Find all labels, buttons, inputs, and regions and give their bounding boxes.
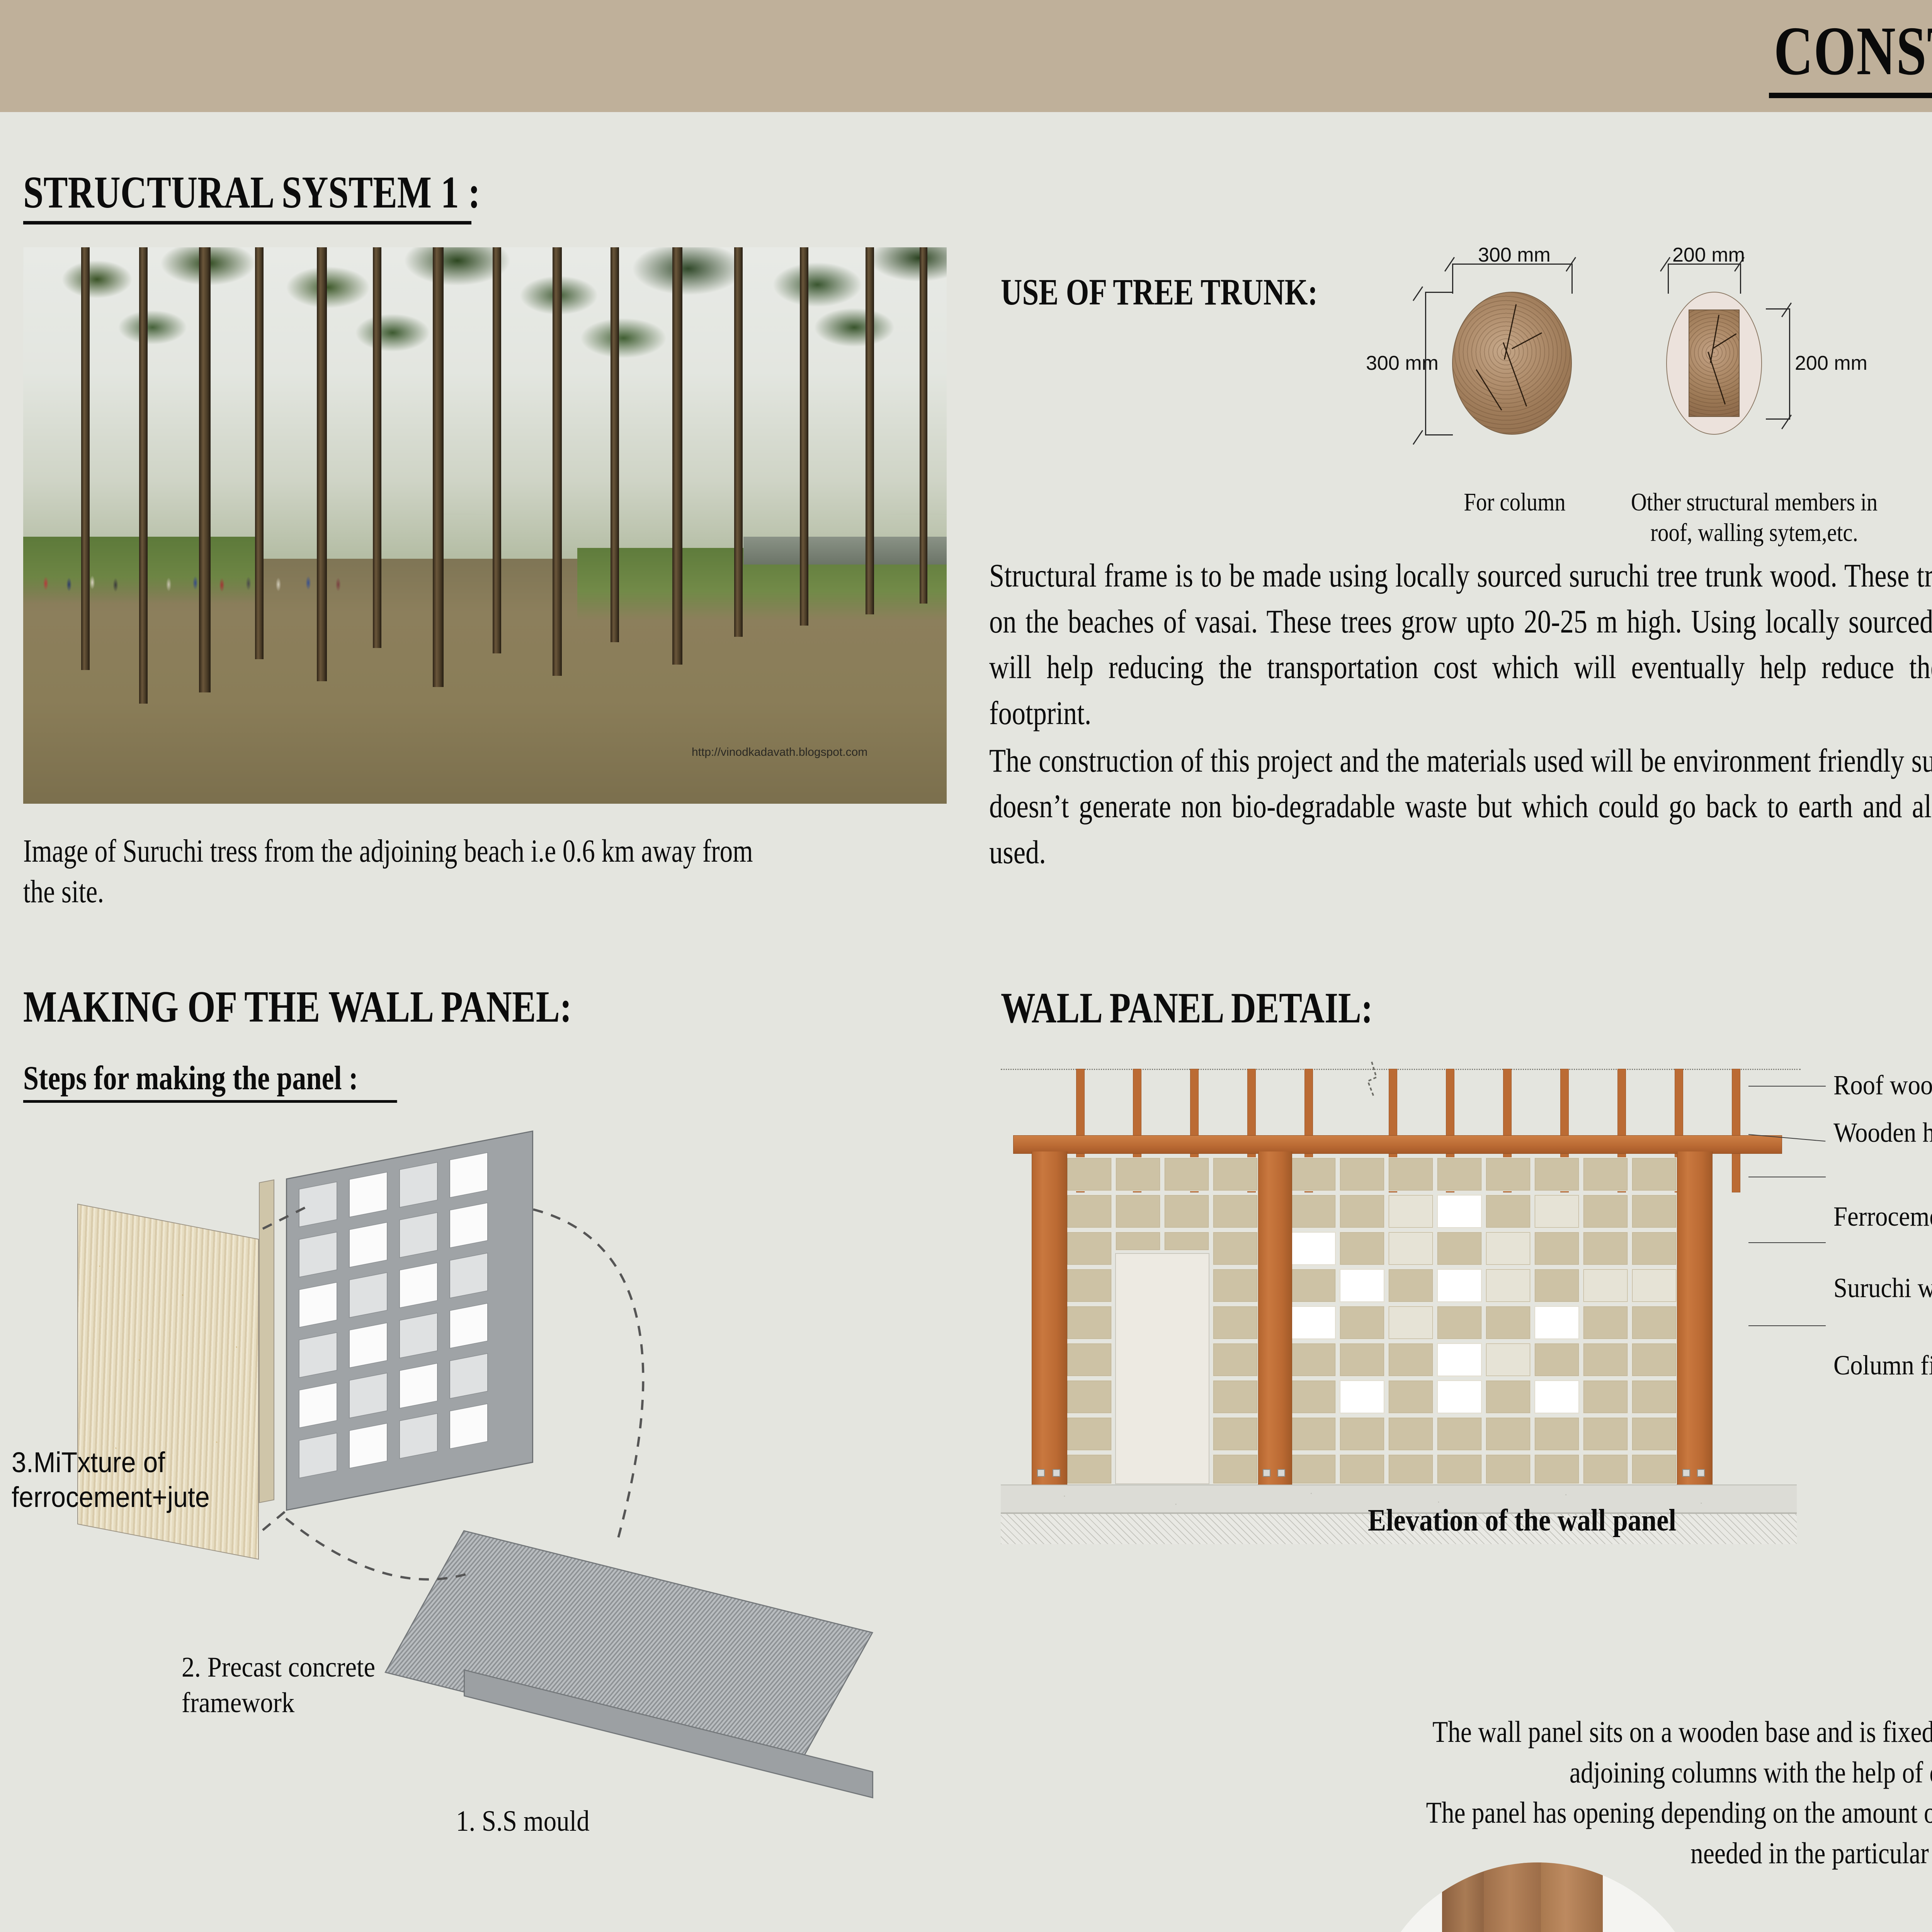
wall-block xyxy=(1534,1343,1580,1377)
wall-block xyxy=(1583,1454,1628,1484)
callout-leader-line xyxy=(1748,1177,1826,1177)
column-fixture xyxy=(1682,1469,1690,1477)
page-title: CONSTRUCTION xyxy=(1774,11,1932,91)
wall-block xyxy=(1583,1343,1628,1377)
wall-block-light xyxy=(1388,1194,1434,1228)
wall-block xyxy=(1291,1269,1336,1303)
wall-block xyxy=(1339,1343,1385,1377)
wall-block xyxy=(1291,1417,1336,1451)
wall-block xyxy=(1583,1306,1628,1340)
wall-block-open xyxy=(1534,1306,1580,1340)
wall-block xyxy=(1437,1454,1482,1484)
intro-paragraph-1: Structural frame is to be made using loc… xyxy=(989,553,1932,736)
wall-block xyxy=(1583,1194,1628,1228)
section-heading-steps-label: Steps for making the panel : xyxy=(23,1060,358,1097)
photo-tree-trunk xyxy=(255,247,264,659)
wall-block xyxy=(1213,1417,1258,1451)
wall-block xyxy=(1213,1454,1258,1484)
wall-block xyxy=(1291,1157,1336,1191)
section-heading-structural-system-label: STRUCTURAL SYSTEM 1 : xyxy=(23,167,480,218)
base-paragraph-2: The panel has opening depending on the a… xyxy=(1420,1793,1932,1873)
wall-block xyxy=(1388,1454,1434,1484)
dim-width-300: 300 mm xyxy=(1478,243,1551,267)
wall-block xyxy=(1437,1157,1482,1191)
dim-ext-right xyxy=(1571,264,1573,294)
suruchi-wood-column xyxy=(1032,1151,1067,1485)
wall-block-open xyxy=(1339,1269,1385,1303)
dim-ext-left xyxy=(1452,264,1453,294)
dim-height-200: 200 mm xyxy=(1795,352,1867,375)
wooden-column-post xyxy=(1541,1862,1603,1932)
wall-block-open xyxy=(1291,1306,1336,1340)
wall-block xyxy=(1388,1343,1434,1377)
wall-block xyxy=(1339,1306,1385,1340)
detail-circle-mask xyxy=(1368,1862,1708,1932)
wall-block-light xyxy=(1388,1231,1434,1265)
section-heading-steps: Steps for making the panel : xyxy=(23,1059,397,1103)
wall-block xyxy=(1115,1157,1161,1191)
wall-block xyxy=(1631,1454,1677,1484)
callout-ferrocement-jute-panels: Ferrocement + Jute wall panels xyxy=(1833,1200,1932,1234)
wall-panel-elevation-drawing xyxy=(997,1036,1816,1499)
photo-tree-trunk xyxy=(920,247,927,604)
wall-block xyxy=(1485,1417,1531,1451)
wall-block xyxy=(1583,1157,1628,1191)
wall-block xyxy=(1534,1454,1580,1484)
wall-block xyxy=(1213,1194,1258,1228)
wall-block-light xyxy=(1485,1343,1531,1377)
wall-block xyxy=(1631,1306,1677,1340)
photo-tree-trunk xyxy=(866,247,874,614)
wall-block xyxy=(1631,1231,1677,1265)
photo-tree-trunk xyxy=(672,247,682,665)
suruchi-wood-column xyxy=(1677,1151,1713,1485)
base-paragraph-1: The wall panel sits on a wooden base and… xyxy=(1420,1712,1932,1793)
dim-tick xyxy=(1413,430,1423,445)
wall-block xyxy=(1485,1380,1531,1414)
photo-caption: Image of Suruchi tress from the adjoinin… xyxy=(23,831,781,912)
wall-block xyxy=(1583,1417,1628,1451)
section-heading-use-of-tree-trunk-label: USE OF TREE TRUNK: xyxy=(1001,271,1318,313)
trunk-caption-for-column: For column xyxy=(1442,487,1588,517)
wall-block xyxy=(1534,1269,1580,1303)
section-heading-structural-system: STRUCTURAL SYSTEM 1 : xyxy=(23,166,480,224)
wall-block-open xyxy=(1437,1343,1482,1377)
wall-block xyxy=(1631,1157,1677,1191)
column-fixture xyxy=(1277,1469,1285,1477)
intro-paragraph-2: The construction of this project and the… xyxy=(989,738,1932,875)
trunk-growth-rings xyxy=(1689,310,1739,416)
column-fixture xyxy=(1263,1469,1270,1477)
wall-block-open xyxy=(1339,1380,1385,1414)
callout-suruchi-wood-columns: Suruchi wood columns xyxy=(1833,1271,1932,1305)
wall-block xyxy=(1388,1380,1434,1414)
trunk-caption-other-members: Other structural members in roof, wallin… xyxy=(1618,487,1890,548)
wall-block xyxy=(1213,1269,1258,1303)
trunk-squared-section xyxy=(1666,292,1762,435)
wall-block xyxy=(1164,1157,1209,1191)
dim-right-line-200 xyxy=(1789,308,1790,420)
photo-tree-trunk xyxy=(800,247,808,626)
wooden-horizontal-beam xyxy=(1013,1135,1782,1154)
wall-block xyxy=(1437,1417,1482,1451)
trunk-growth-rings xyxy=(1453,293,1571,434)
wall-block xyxy=(1291,1454,1336,1484)
wall-block xyxy=(1115,1194,1161,1228)
wall-block xyxy=(1388,1157,1434,1191)
trunk-round-section xyxy=(1452,292,1572,435)
wall-block xyxy=(1339,1194,1385,1228)
wall-block xyxy=(1583,1231,1628,1265)
wall-block xyxy=(1213,1157,1258,1191)
wall-block xyxy=(1066,1231,1112,1265)
wall-block xyxy=(1066,1157,1112,1191)
wall-block xyxy=(1115,1231,1161,1251)
panel-step-3-label: 3.MiTxture of ferrocement+jute xyxy=(12,1445,210,1515)
board-header-bar: CONSTRUCTION xyxy=(0,0,1932,112)
wall-block xyxy=(1339,1157,1385,1191)
section-heading-wall-panel-detail: WALL PANEL DETAIL: xyxy=(1001,983,1373,1033)
wall-block xyxy=(1066,1194,1112,1228)
photo-tree-trunk xyxy=(139,247,148,704)
wall-block-open xyxy=(1437,1269,1482,1303)
heading-underline xyxy=(23,221,471,224)
wall-block-light xyxy=(1485,1231,1531,1265)
elevation-caption: Elevation of the wall panel xyxy=(1368,1503,1676,1538)
wall-block xyxy=(1485,1157,1531,1191)
tree-trunk-section-diagram: 300 mm 300 mm For column 200 mm 200 mm xyxy=(1406,240,1932,533)
wall-block xyxy=(1066,1380,1112,1414)
wooden-column-post xyxy=(1484,1862,1542,1932)
presentation-board: CONSTRUCTION STRUCTURAL SYSTEM 1 : http:… xyxy=(0,0,1932,1932)
section-heading-making-of-wall-panel-label: MAKING OF THE WALL PANEL: xyxy=(23,982,572,1032)
section-heading-wall-panel-detail-label: WALL PANEL DETAIL: xyxy=(1001,984,1373,1032)
photo-tree-trunk xyxy=(433,247,444,687)
dim-ext-top xyxy=(1766,308,1790,310)
wall-block xyxy=(1485,1306,1531,1340)
title-underline xyxy=(1769,93,1932,98)
column-fixture xyxy=(1037,1469,1045,1477)
photo-tree-trunk xyxy=(493,247,501,653)
photo-tree-trunk xyxy=(734,247,743,637)
photo-tree-trunk xyxy=(81,247,90,670)
suruchi-wood-column xyxy=(1258,1151,1292,1485)
wall-block xyxy=(1291,1343,1336,1377)
wall-block xyxy=(1485,1454,1531,1484)
callout-leader-line xyxy=(1748,1325,1826,1326)
photo-tree-trunk xyxy=(611,247,619,642)
wall-block xyxy=(1339,1231,1385,1265)
wooden-column-post xyxy=(1442,1862,1488,1932)
photo-tree-trunk xyxy=(373,247,381,648)
wall-block-open xyxy=(1437,1194,1482,1228)
wall-block-light xyxy=(1534,1194,1580,1228)
photo-tree-trunk xyxy=(553,247,562,676)
wall-block xyxy=(1066,1343,1112,1377)
wall-block-open xyxy=(1291,1231,1336,1265)
photo-tree-trunk xyxy=(317,247,327,681)
roof-rafter xyxy=(1732,1069,1740,1192)
wall-block xyxy=(1631,1343,1677,1377)
dim-ext-left xyxy=(1668,264,1669,294)
wall-block xyxy=(1339,1454,1385,1484)
callout-leader-line xyxy=(1748,1086,1826,1087)
wall-block xyxy=(1631,1380,1677,1414)
structural-system-paragraph: Structural frame is to be made using loc… xyxy=(989,553,1932,877)
column-base-3d-detail xyxy=(1368,1862,1739,1932)
doorway-opening xyxy=(1115,1253,1209,1484)
wall-block-light xyxy=(1485,1269,1531,1303)
wall-block xyxy=(1388,1417,1434,1451)
photo-watermark: http://vinodkadavath.blogspot.com xyxy=(692,746,867,759)
heading-underline xyxy=(23,1100,397,1103)
dim-ext-top xyxy=(1425,292,1453,293)
suruchi-trees-photo xyxy=(23,247,947,804)
wall-block-open xyxy=(1534,1380,1580,1414)
callout-column-fixture-bottom: Column fixture at the bottom xyxy=(1833,1349,1932,1383)
wall-block xyxy=(1339,1417,1385,1451)
panel-step-1-label: 1. S.S mould xyxy=(456,1804,590,1838)
dim-height-300: 300 mm xyxy=(1366,352,1439,375)
callout-leader-line xyxy=(1748,1242,1826,1243)
wall-block xyxy=(1213,1343,1258,1377)
column-fixture xyxy=(1697,1469,1705,1477)
wall-block xyxy=(1066,1417,1112,1451)
wall-block xyxy=(1213,1306,1258,1340)
photo-tree-trunk xyxy=(199,247,211,692)
wall-block xyxy=(1534,1157,1580,1191)
wall-block xyxy=(1631,1417,1677,1451)
wall-block-open xyxy=(1437,1380,1482,1414)
base-connection-paragraph: The wall panel sits on a wooden base and… xyxy=(1420,1712,1932,1873)
wall-block xyxy=(1164,1231,1209,1251)
wall-block xyxy=(1437,1231,1482,1265)
dim-width-200: 200 mm xyxy=(1672,243,1745,267)
wall-block xyxy=(1213,1380,1258,1414)
section-heading-making-of-wall-panel: MAKING OF THE WALL PANEL: xyxy=(23,981,572,1033)
wall-block xyxy=(1485,1194,1531,1228)
wall-block xyxy=(1291,1380,1336,1414)
dim-ext-right xyxy=(1740,264,1741,294)
wall-block-light xyxy=(1631,1269,1677,1303)
wall-block xyxy=(1583,1380,1628,1414)
wall-block xyxy=(1066,1306,1112,1340)
wall-block xyxy=(1534,1231,1580,1265)
column-fixture xyxy=(1053,1469,1060,1477)
section-heading-use-of-tree-trunk: USE OF TREE TRUNK: xyxy=(1001,270,1318,313)
wall-block xyxy=(1534,1417,1580,1451)
wall-block xyxy=(1066,1269,1112,1303)
callout-roof-wooden-members: Roof wooden members xyxy=(1833,1068,1932,1102)
dim-ext-bottom xyxy=(1425,434,1453,435)
wall-block xyxy=(1631,1194,1677,1228)
panel-step-2-label: 2. Precast concrete framework xyxy=(182,1650,375,1721)
wall-block-light xyxy=(1583,1269,1628,1303)
wall-block xyxy=(1066,1454,1112,1484)
photo-sea xyxy=(743,537,947,565)
wall-block xyxy=(1388,1269,1434,1303)
wall-block-light xyxy=(1388,1306,1434,1340)
dim-tick xyxy=(1413,286,1423,301)
wall-block xyxy=(1164,1194,1209,1228)
dim-tick xyxy=(1781,415,1792,429)
wall-block xyxy=(1213,1231,1258,1265)
wall-block xyxy=(1437,1306,1482,1340)
trunk-squared-core xyxy=(1689,310,1740,417)
wall-block xyxy=(1291,1194,1336,1228)
callout-wooden-horizontal-member: Wooden horizontal member for support xyxy=(1833,1116,1932,1150)
dim-ext-bottom xyxy=(1766,418,1790,420)
